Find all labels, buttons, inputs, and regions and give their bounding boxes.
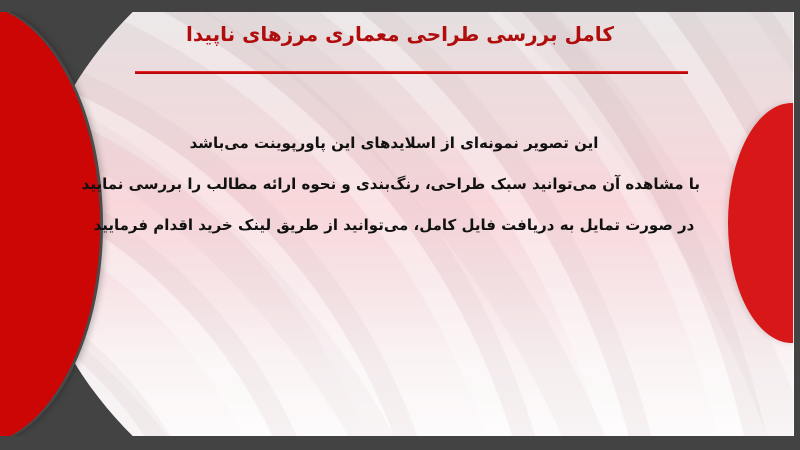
slide-frame-bottom-band bbox=[0, 436, 800, 450]
body-line-3: در صورت تمایل به دریافت فایل کامل، می‌تو… bbox=[88, 205, 700, 246]
body-line-1: این تصویر نمونه‌ای از اسلایدهای این پاور… bbox=[88, 123, 700, 164]
slide-body-text: این تصویر نمونه‌ای از اسلایدهای این پاور… bbox=[88, 123, 700, 246]
slide-frame-top-band bbox=[0, 0, 800, 12]
title-underline-rule bbox=[135, 71, 688, 74]
slide-title: کامل بررسی طراحی معماری مرزهای ناپیدا bbox=[0, 22, 800, 46]
slide-frame-right-band bbox=[794, 0, 800, 450]
presentation-slide: کامل بررسی طراحی معماری مرزهای ناپیدا ای… bbox=[0, 0, 800, 450]
body-line-2: با مشاهده آن می‌توانید سبک طراحی، رنگ‌بن… bbox=[88, 164, 700, 205]
